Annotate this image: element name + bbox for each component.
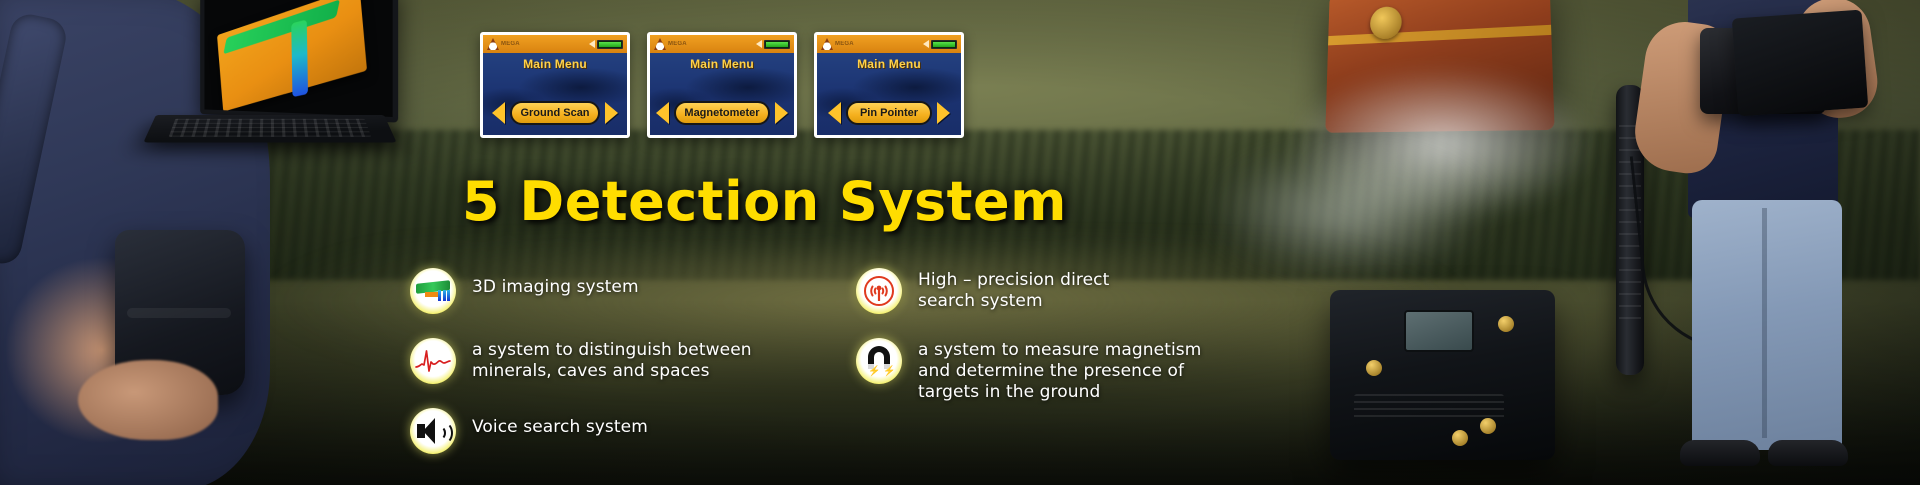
shoulder-strap [0, 11, 69, 267]
feature-label: a system to distinguish between minerals… [472, 338, 752, 382]
laptop-photo [150, 0, 400, 150]
terrain-blue-bar [443, 290, 446, 301]
feature-item-high-precision: High – precision direct search system [856, 268, 1266, 314]
card-status-bar: MEGA [650, 35, 794, 53]
magnet-spark-icon: ⚡ [883, 367, 895, 377]
brand-logo: MEGA [821, 38, 854, 50]
magnet-spark-icon: ⚡ [868, 367, 880, 377]
feature-item-magnetism: ⚡ ⚡ a system to measure magnetism and de… [856, 338, 1266, 403]
speaker-icon [410, 408, 456, 454]
feature-item-mineral-distinction: a system to distinguish between minerals… [410, 338, 810, 384]
laptop-screen [200, 0, 398, 123]
person-right-shoe [1768, 440, 1848, 466]
battery-fill [599, 42, 621, 47]
menu-card-magnetometer[interactable]: MEGA Main Menu Magnetometer [647, 32, 797, 138]
brand-logo: MEGA [487, 38, 520, 50]
brand-label: MEGA [835, 41, 854, 47]
waveform-icon [410, 338, 456, 384]
card-mode-selector: Magnetometer [650, 101, 794, 125]
right-arrow-icon[interactable] [605, 102, 618, 124]
left-arrow-icon[interactable] [828, 102, 841, 124]
brand-label: MEGA [668, 41, 687, 47]
card-status-bar: MEGA [483, 35, 627, 53]
brand-mark-icon [654, 38, 666, 50]
detector-knob [1480, 418, 1496, 434]
card-mode-selector: Ground Scan [483, 101, 627, 125]
hand-holding-laptop [78, 360, 218, 440]
detector-knob [1498, 316, 1514, 332]
signal-antenna-icon [856, 268, 902, 314]
feature-label: a system to measure magnetism and determ… [918, 338, 1201, 403]
speaker-icon [756, 40, 762, 48]
mode-button-magnetometer[interactable]: Magnetometer [674, 101, 769, 125]
card-title: Main Menu [483, 57, 627, 71]
left-arrow-icon[interactable] [492, 102, 505, 124]
brand-logo: MEGA [654, 38, 687, 50]
status-indicators [589, 40, 623, 49]
person-right-jeans [1692, 200, 1842, 450]
mode-button-ground-scan[interactable]: Ground Scan [510, 101, 599, 125]
battery-full-icon [597, 40, 623, 49]
card-title: Main Menu [650, 57, 794, 71]
tablet-device [1732, 10, 1869, 117]
feature-item-3d-imaging: 3D imaging system [410, 268, 810, 314]
mode-button-pin-pointer[interactable]: Pin Pointer [846, 101, 932, 125]
battery-fill [933, 42, 955, 47]
menu-card-list: MEGA Main Menu Ground Scan [480, 32, 964, 138]
right-arrow-icon[interactable] [937, 102, 950, 124]
scan-target-spike [291, 19, 308, 97]
magnet-icon: ⚡ ⚡ [856, 338, 902, 384]
feature-label: Voice search system [472, 408, 648, 438]
speaker-wave [438, 418, 456, 448]
terrain-3d-glyph [416, 279, 450, 303]
laptop-keys [169, 119, 372, 137]
terrain-blue-bar [438, 290, 441, 301]
menu-card-pin-pointer[interactable]: MEGA Main Menu Pin Pointer [814, 32, 964, 138]
battery-full-icon [764, 40, 790, 49]
right-arrow-icon[interactable] [775, 102, 788, 124]
detector-lcd-screen [1404, 310, 1474, 352]
brand-mark-icon [487, 38, 499, 50]
speaker-icon [923, 40, 929, 48]
magnet-glyph: ⚡ ⚡ [864, 346, 894, 376]
feature-column-left: 3D imaging system a system to distinguis… [410, 268, 810, 478]
feature-label: 3D imaging system [472, 268, 639, 298]
brand-mark-icon [821, 38, 833, 50]
speaker-icon [589, 40, 595, 48]
page-title: 5 Detection System [462, 170, 1067, 233]
terrain-blue-bar [447, 290, 450, 301]
magnet-horseshoe [868, 346, 890, 366]
brand-label: MEGA [501, 41, 520, 47]
detector-control-unit [1330, 290, 1555, 460]
card-title: Main Menu [817, 57, 961, 71]
detector-knob [1366, 360, 1382, 376]
status-indicators [756, 40, 790, 49]
feature-column-right: High – precision direct search system ⚡ … [856, 268, 1266, 478]
terrain-3d-icon [410, 268, 456, 314]
terrain-orange-band [425, 292, 439, 297]
detector-knob [1452, 430, 1468, 446]
feature-label: High – precision direct search system [918, 268, 1109, 312]
detector-vent [1354, 394, 1504, 420]
laptop-keyboard-base [143, 115, 396, 143]
feature-list: 3D imaging system a system to distinguis… [410, 268, 1270, 478]
card-mode-selector: Pin Pointer [817, 101, 961, 125]
battery-fill [766, 42, 788, 47]
card-status-bar: MEGA [817, 35, 961, 53]
signal-antenna-glyph [863, 275, 895, 307]
battery-full-icon [931, 40, 957, 49]
promo-banner: MEGA Main Menu Ground Scan [0, 0, 1920, 485]
status-indicators [923, 40, 957, 49]
scan-green-ridge [223, 0, 340, 54]
ground-scan-3d-graph [217, 0, 367, 112]
feature-item-voice-search: Voice search system [410, 408, 810, 454]
left-arrow-icon[interactable] [656, 102, 669, 124]
waveform-glyph [415, 348, 451, 374]
menu-card-ground-scan[interactable]: MEGA Main Menu Ground Scan [480, 32, 630, 138]
person-right-shoe [1680, 440, 1760, 466]
speaker-glyph [417, 418, 449, 444]
